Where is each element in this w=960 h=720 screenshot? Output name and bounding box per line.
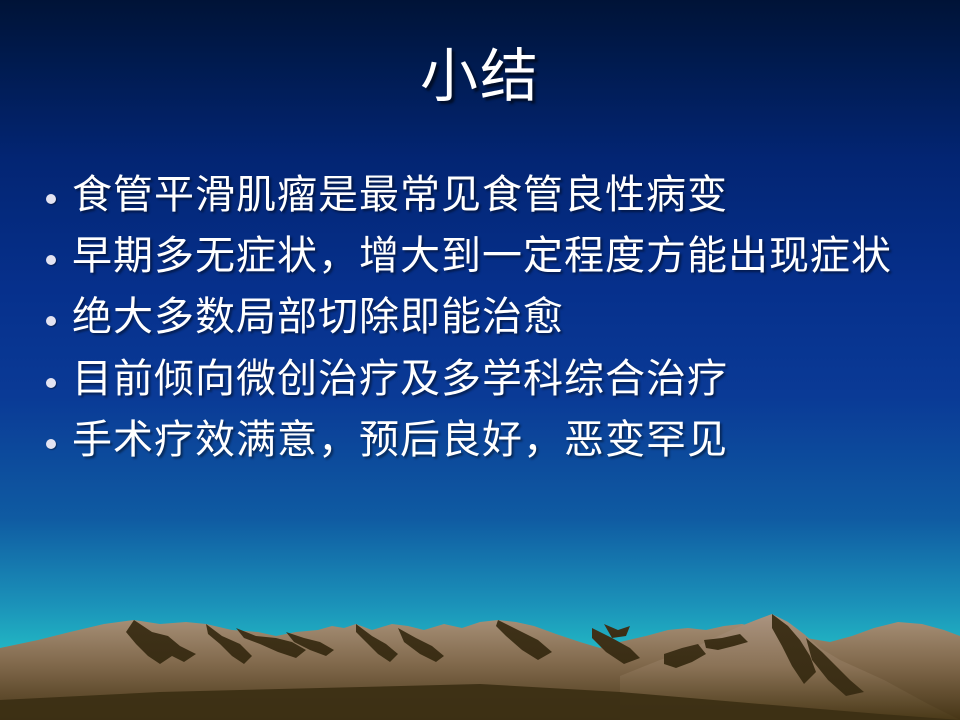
bullet-text: 手术疗效满意，预后良好，恶变罕见 bbox=[72, 413, 926, 468]
list-item: 目前倾向微创治疗及多学科综合治疗 bbox=[46, 352, 926, 407]
mountain-shadow-i bbox=[604, 624, 630, 638]
slide-title: 小结 bbox=[0, 46, 960, 107]
bullet-text: 食管平滑肌瘤是最常见食管良性病变 bbox=[72, 168, 926, 223]
bullet-text: 早期多无症状，增大到一定程度方能出现症状 bbox=[72, 229, 926, 284]
mountain-range-icon bbox=[0, 580, 960, 720]
bullet-dot-icon bbox=[46, 255, 56, 265]
bullet-text: 目前倾向微创治疗及多学科综合治疗 bbox=[72, 352, 926, 407]
list-item: 早期多无症状，增大到一定程度方能出现症状 bbox=[46, 229, 926, 284]
list-item: 食管平滑肌瘤是最常见食管良性病变 bbox=[46, 168, 926, 223]
bullet-dot-icon bbox=[46, 378, 56, 388]
bullet-text: 绝大多数局部切除即能治愈 bbox=[72, 290, 926, 345]
bullet-list: 食管平滑肌瘤是最常见食管良性病变 早期多无症状，增大到一定程度方能出现症状 绝大… bbox=[46, 168, 926, 474]
list-item: 绝大多数局部切除即能治愈 bbox=[46, 290, 926, 345]
bullet-dot-icon bbox=[46, 194, 56, 204]
bullet-dot-icon bbox=[46, 316, 56, 326]
list-item: 手术疗效满意，预后良好，恶变罕见 bbox=[46, 413, 926, 468]
slide-canvas: 小结 食管平滑肌瘤是最常见食管良性病变 早期多无症状，增大到一定程度方能出现症状… bbox=[0, 0, 960, 720]
bullet-dot-icon bbox=[46, 439, 56, 449]
